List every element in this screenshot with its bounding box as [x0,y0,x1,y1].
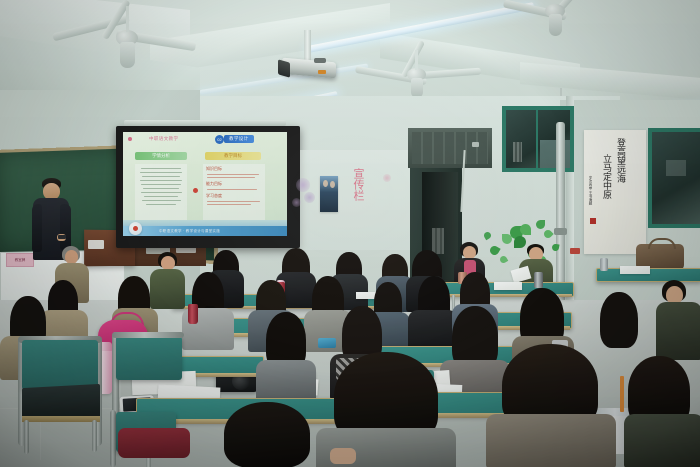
right-back-cup [600,258,608,271]
calligraphy-signature: 岁次丙申 王书海题 [589,176,594,212]
wall-flower-decal-3 [292,198,301,207]
bulletin-board-title: 宣传栏 [352,168,365,234]
attendee-far-right [656,280,700,360]
window-side-right-glass [652,132,700,224]
wall-hook [472,142,479,147]
attendee-r3-5 [256,312,316,404]
chair-leg-left-2 [92,420,97,452]
chair-back-left [22,340,98,390]
slide-panel-right-body: 知识目标 能力目标 学习态度 [203,164,265,220]
pipe-red-tag [570,248,580,254]
slide-logo-mark [133,226,138,231]
calligraphy-scroll: 登高望远海 立马定中原 岁次丙申 王书海题 [584,130,646,254]
window-inner-grille [513,142,522,162]
lectern-paper [88,240,104,249]
slide-title: 中职语文教学 [149,136,178,142]
ceiling-fan-center [355,50,475,102]
ceiling-fan-right [505,0,615,40]
attendee-fg-far-right [624,356,700,467]
slide-panel-right-header: 教学目标 [205,152,261,160]
attendee-fg-center [316,352,456,467]
slide-panel-left-body [135,164,187,220]
attendee-fg-left [210,402,330,467]
wall-flower-decal-2 [304,192,315,203]
projection-screen: 中职语文教学 02 教学设计 学情分析 教学目标 [123,132,287,236]
wall-flower-decal-4 [383,174,391,182]
calligraphy-line-1: 登高望远海 [614,138,625,194]
slide-badge: 教学设计 [224,135,254,143]
window-side-reflection [666,160,686,176]
wall-flower-decal-1 [296,178,310,192]
back-desk-thermos-cup [534,272,543,288]
poster-figure-head [323,180,328,187]
attendee-hand [330,448,356,464]
slide-panel-left-header: 学情分析 [135,152,187,160]
row2-red-flask [188,304,198,324]
slide-objective-2: 能力目标 [206,181,265,187]
calligraphy-seal [590,218,596,224]
classroom-sign-text: 教室牌 [15,258,26,263]
ceiling-mounted-projector [282,30,338,82]
brown-bag-handle [648,238,676,249]
attendee-fg-right [486,344,616,467]
red-shoulder-bag [118,428,190,458]
slide-objective-1: 知识目标 [206,166,265,172]
slide-objective-3: 学习态度 [206,193,265,199]
calligraphy-line-2: 立马定中原 [600,154,611,210]
right-back-papers [620,266,650,274]
classroom-photo: 第四节 教室牌 中职语文教学 02 教学设计 学情分析 [0,0,700,467]
slide-footer: 中职语文教学 · 教学设计与课堂实施 [123,226,287,236]
slide-bullet-dot [128,137,132,141]
screen-roller-housing [124,120,286,126]
window-back-right-pane [540,140,570,168]
slide-footer-text: 中职语文教学 · 教学设计与课堂实施 [159,229,220,234]
remote-clicker [58,235,66,239]
slide-center-marker [193,188,198,193]
chair-top-rail-mid [112,332,184,338]
window-mullion [536,110,538,168]
chair-back-mid [116,336,182,380]
ceiling-fan-left [58,6,188,68]
poster-figure-head-2 [330,181,335,188]
chair-leg-left-1 [24,420,29,454]
transom-grille [412,132,488,164]
chair-seat-edge-left [22,416,100,422]
projection-screen-frame: 中职语文教学 02 教学设计 学情分析 教学目标 [116,126,300,248]
slide-badge-number: 02 [215,135,224,144]
